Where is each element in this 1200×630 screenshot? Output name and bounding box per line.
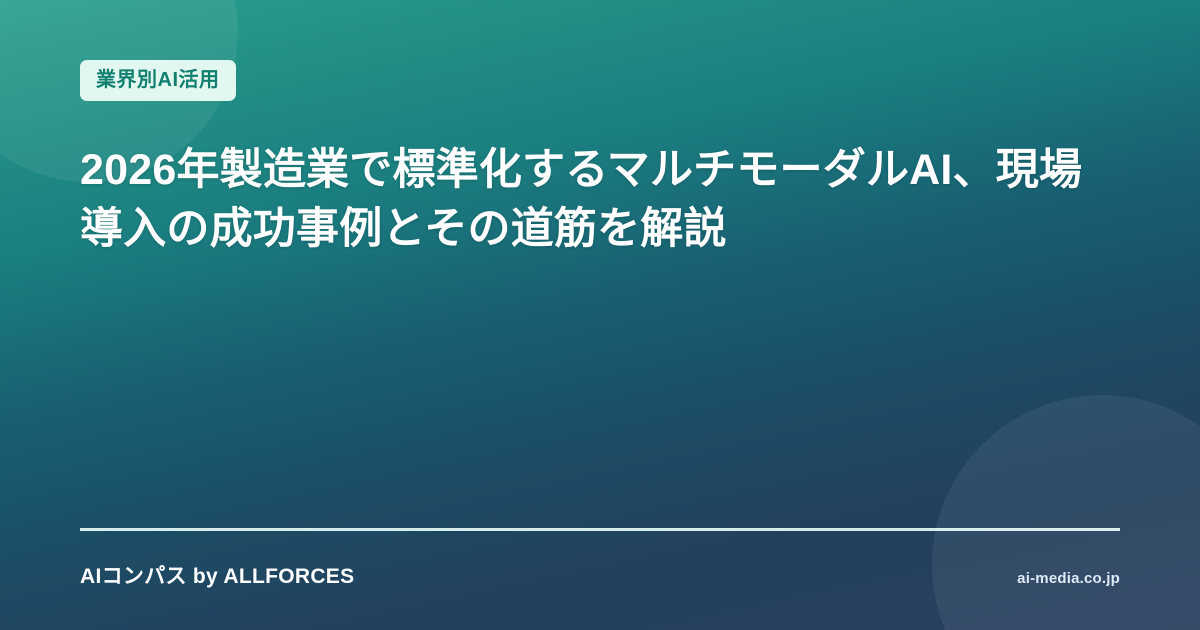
brand-name: AIコンパス by ALLFORCES [80,560,354,590]
category-badge: 業界別AI活用 [80,60,236,101]
footer-divider [80,528,1120,531]
card-footer: AIコンパス by ALLFORCES ai-media.co.jp [80,528,1120,590]
footer-row: AIコンパス by ALLFORCES ai-media.co.jp [80,560,1120,590]
page-title: 2026年製造業で標準化するマルチモーダルAI、現場導入の成功事例とその道筋を解… [80,141,1120,260]
site-domain: ai-media.co.jp [1017,570,1120,587]
og-card: 業界別AI活用 2026年製造業で標準化するマルチモーダルAI、現場導入の成功事… [0,0,1200,630]
